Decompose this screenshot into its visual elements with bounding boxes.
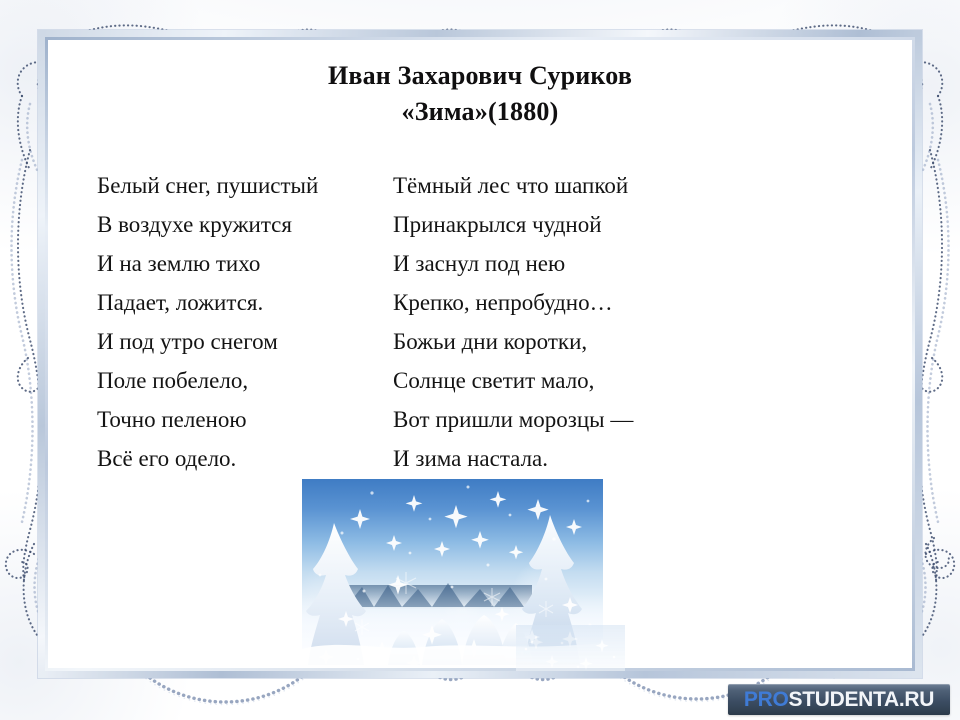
poem-line: И под утро снегом [97,322,393,361]
page-title: Иван Захарович Суриков «Зима»(1880) [60,58,900,130]
winter-photo-overlay-sliver [516,625,625,671]
slide-canvas: Иван Захарович Суриков «Зима»(1880) Белы… [0,0,960,720]
poem-line: Принакрылся чудной [393,205,753,244]
watermark-badge: PROSTUDENTA.RU [728,684,950,715]
poem-line: Белый снег, пушистый [97,166,393,205]
poem-line: Солнце светит мало, [393,361,753,400]
photo-overlay-sparkles [516,625,625,671]
watermark-suffix: STUDENTA.RU [788,688,934,711]
title-work: «Зима»(1880) [60,94,900,130]
poem-column-left: Белый снег, пушистый В воздухе кружится … [97,166,393,478]
poem-line: И заснул под нею [393,244,753,283]
watermark-text: PROSTUDENTA.RU [744,689,934,710]
title-author: Иван Захарович Суриков [60,58,900,94]
poem-line: Точно пеленою [97,400,393,439]
poem-line: Тёмный лес что шапкой [393,166,753,205]
poem-line: В воздухе кружится [97,205,393,244]
watermark-prefix: PRO [744,688,789,711]
poem-line: Божьи дни коротки, [393,322,753,361]
poem-line: Крепко, непробудно… [393,283,753,322]
poem-line: И зима настала. [393,439,753,478]
poem-line: Падает, ложится. [97,283,393,322]
poem-body: Белый снег, пушистый В воздухе кружится … [0,166,960,478]
poem-line: И на землю тихо [97,244,393,283]
poem-line: Поле побелело, [97,361,393,400]
poem-column-right: Тёмный лес что шапкой Принакрылся чудной… [393,166,753,478]
poem-line: Вот пришли морозцы — [393,400,753,439]
poem-line: Всё его одело. [97,439,393,478]
